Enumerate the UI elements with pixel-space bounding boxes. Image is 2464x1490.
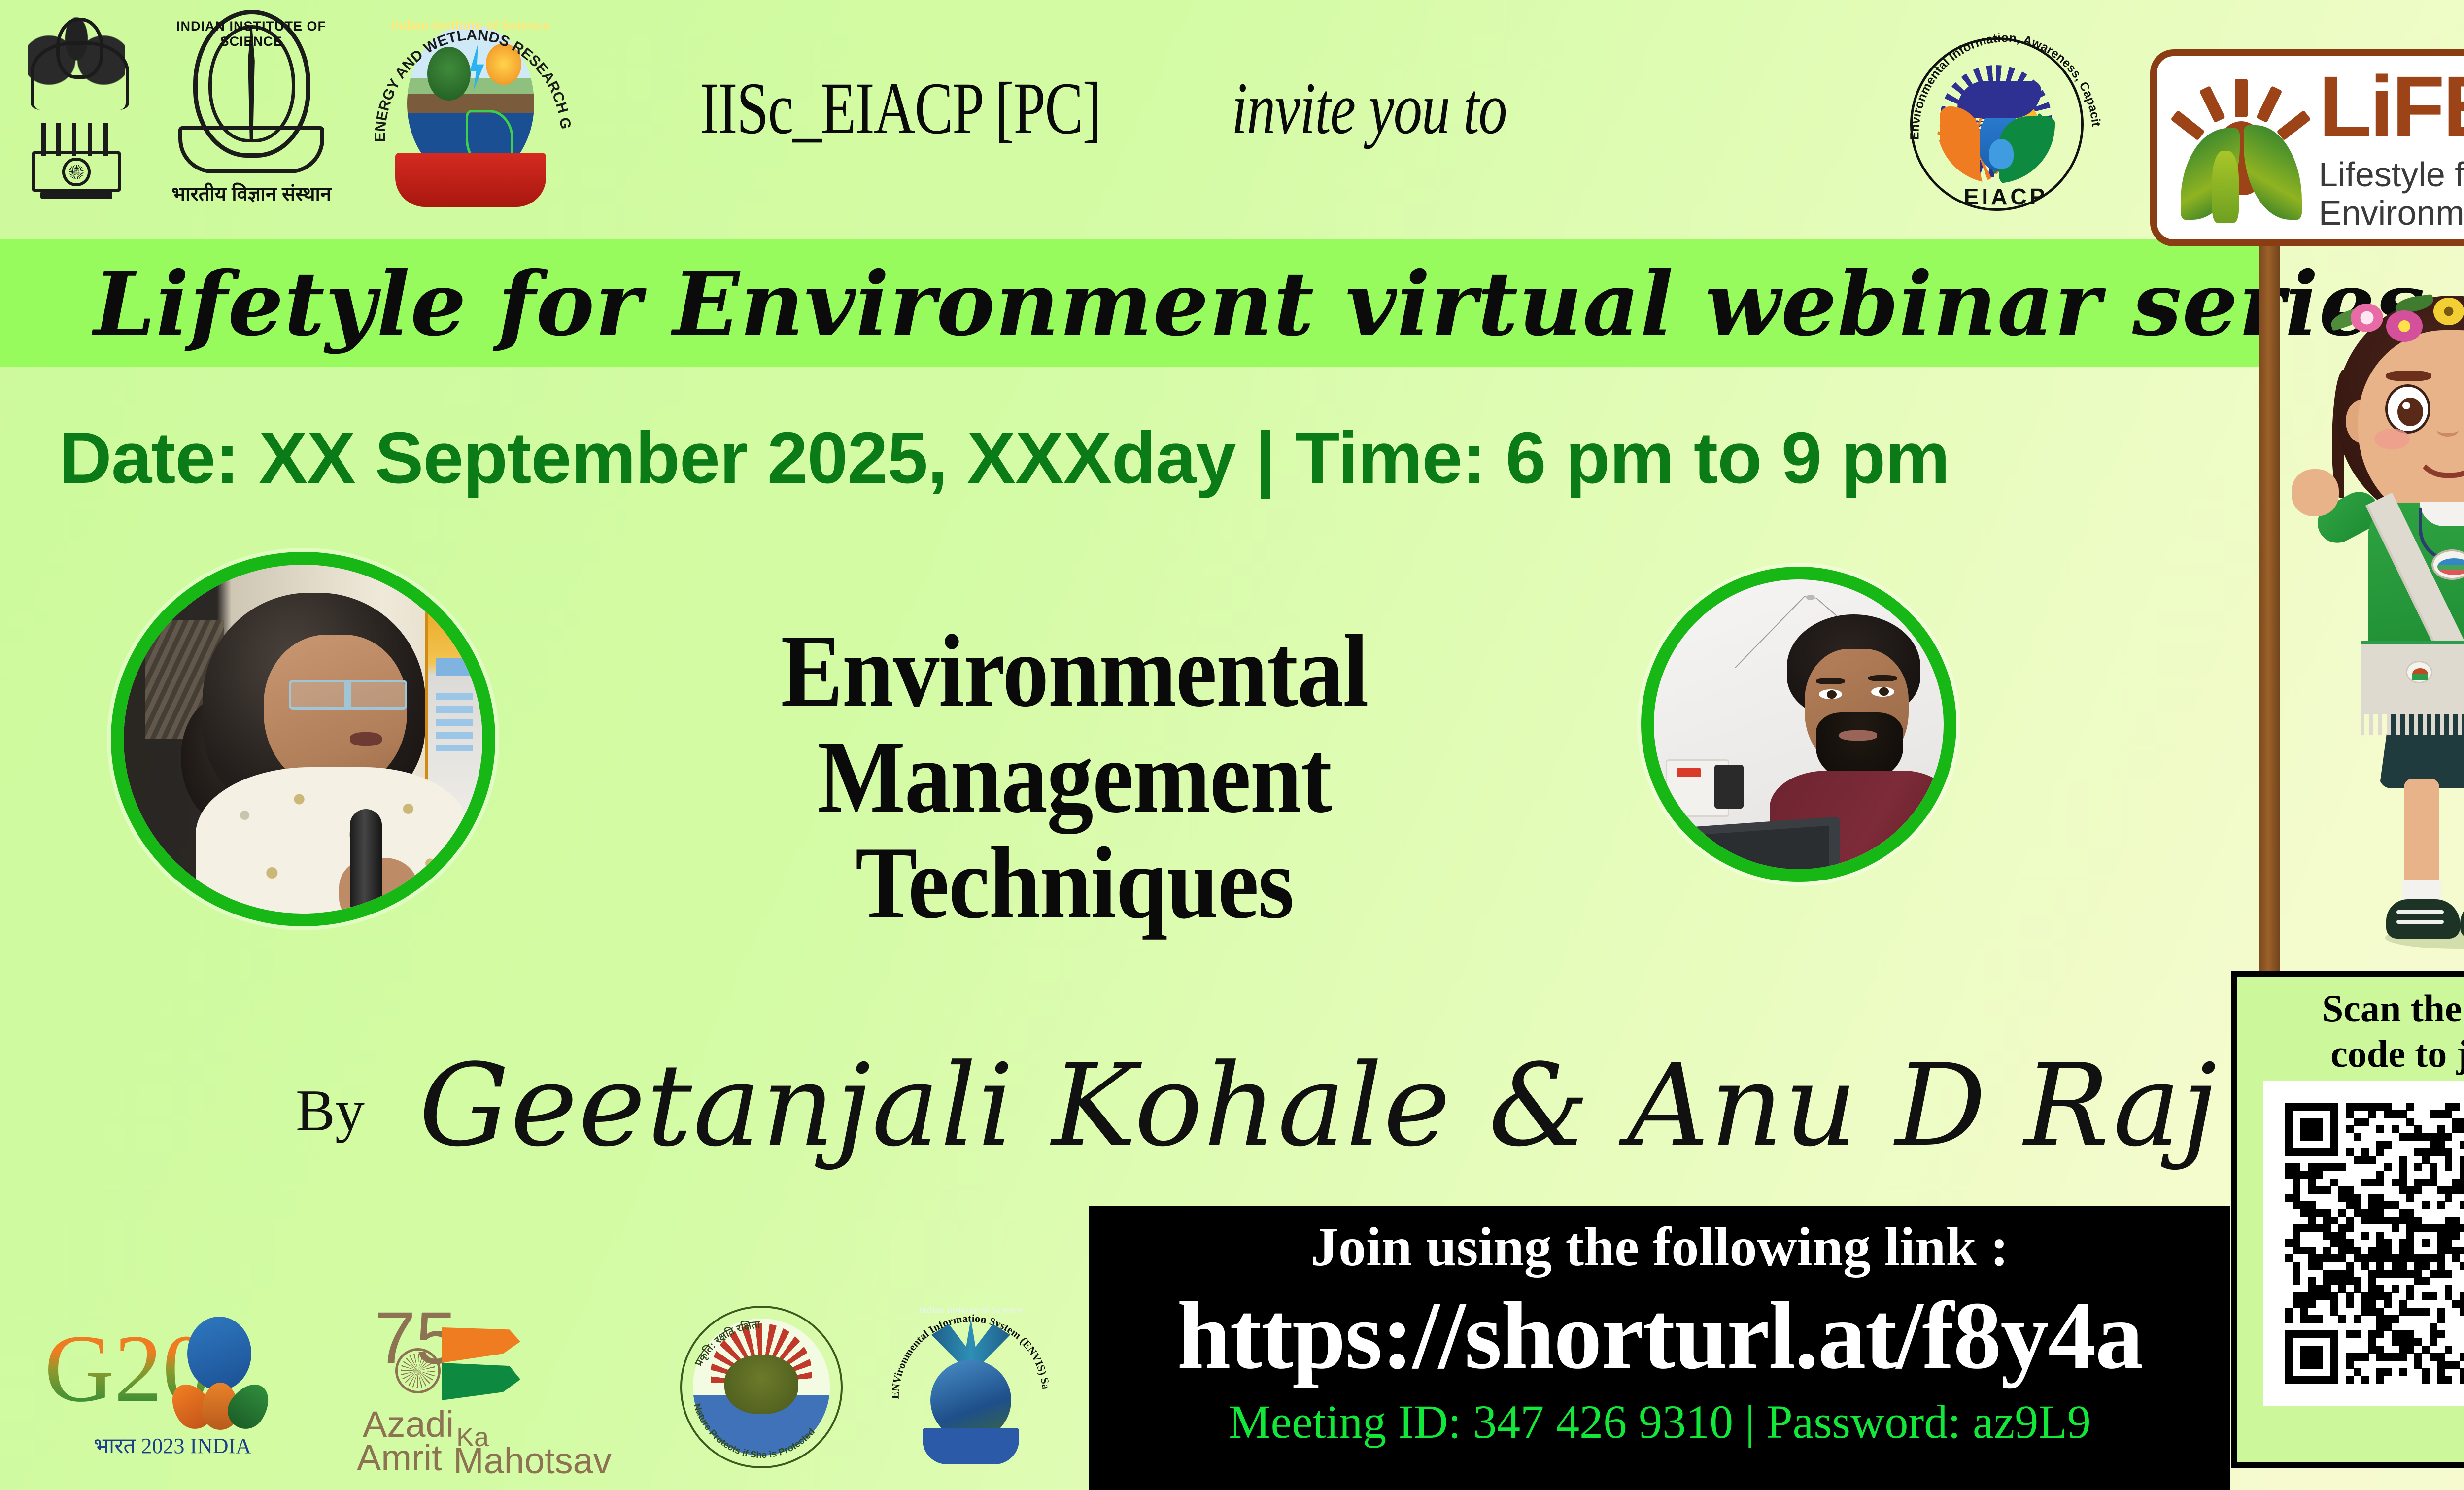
moefcc-arc-text: प्रकृति: रक्षति रक्षिता Nature Protects … bbox=[680, 1306, 843, 1468]
speaker-names: Geetanjali Kohale & Anu D Raj bbox=[419, 1042, 2218, 1170]
ewrg-ribbon-text: Indian Institute of Science bbox=[365, 18, 577, 33]
life-logo-title: LiFE bbox=[2319, 64, 2464, 150]
eiacp-logo: Environmental Information, Awareness, Ca… bbox=[1907, 10, 2104, 217]
speaker-2-photo bbox=[1641, 567, 1956, 882]
invite-italic-text: invite you to bbox=[1232, 59, 1506, 158]
g20-caption: भारत 2023 INDIA bbox=[44, 1430, 301, 1459]
invite-roman-text: IISc_EIACP [PC] bbox=[700, 59, 1101, 158]
flower-crown-icon bbox=[2321, 290, 2464, 364]
national-emblem-icon bbox=[15, 10, 138, 202]
talk-title: Environmental Management Techniques bbox=[655, 618, 1493, 936]
join-label: Join using the following link : bbox=[1089, 1215, 2230, 1279]
qr-panel: Scan the QR code to join TQRCG bbox=[2231, 971, 2464, 1468]
envis-sahyadri-logo: ENVironmental Information System (ENVIS)… bbox=[887, 1296, 1055, 1473]
iisc-banner-text: INDIAN INSTITUTE OF SCIENCE bbox=[168, 19, 335, 49]
life-emblem-icon bbox=[2172, 74, 2310, 222]
date-time-line: Date: XX September 2025, XXXday | Time: … bbox=[59, 414, 2178, 503]
qr-caption-line-1: Scan the QR bbox=[2237, 986, 2464, 1031]
speakers-line: By Geetanjali Kohale & Anu D Raj bbox=[296, 1032, 2020, 1180]
azadi-ka-amrit-mahotsav-logo: 75 Azadi Ka Amrit Mahotsav bbox=[355, 1301, 611, 1478]
iisc-hindi-text: भारतीय विज्ञान संस्थान bbox=[168, 179, 335, 206]
azadi-text-3: Amrit bbox=[357, 1437, 442, 1479]
life-logo-sub2: Environment bbox=[2319, 194, 2464, 232]
talk-title-line-1: Environmental bbox=[697, 618, 1451, 724]
g20-logo: G20 भारत 2023 INDIA bbox=[44, 1306, 301, 1473]
talk-title-line-3: Techniques bbox=[697, 830, 1451, 936]
azadi-text-4: Mahotsav bbox=[453, 1440, 612, 1482]
join-url[interactable]: https://shorturl.at/f8y4a bbox=[1089, 1279, 2230, 1392]
g20-caption-text: 2023 INDIA bbox=[141, 1434, 251, 1458]
talk-title-line-2: Management bbox=[697, 724, 1451, 830]
speaker-1-photo bbox=[111, 552, 495, 926]
series-title: Lifetyle for Environment virtual webinar… bbox=[94, 242, 2163, 366]
iisc-logo: INDIAN INSTITUTE OF SCIENCE भारतीय विज्ञ… bbox=[168, 10, 335, 207]
life-logo-card: LiFE Lifestyle for Environment bbox=[2150, 49, 2464, 246]
qr-caption-line-2: code to join bbox=[2237, 1031, 2464, 1077]
envis-ribbon-text: Indian Institute of Science bbox=[887, 1305, 1055, 1316]
eiacp-label: EIACP bbox=[1907, 183, 2104, 210]
by-prefix: By bbox=[296, 1077, 365, 1145]
life-logo-sub1: Lifestyle for bbox=[2319, 155, 2464, 194]
g20-caption-hindi: भारत bbox=[94, 1434, 136, 1458]
life-mascot-girl bbox=[2262, 266, 2464, 981]
webinar-poster: INDIAN INSTITUTE OF SCIENCE भारतीय विज्ञ… bbox=[0, 0, 2464, 1490]
invite-header: IISc_EIACP [PC] invite you to bbox=[700, 59, 1907, 158]
qr-code[interactable]: TQRCG bbox=[2263, 1081, 2464, 1406]
join-link-box: Join using the following link : https://… bbox=[1089, 1206, 2230, 1490]
meeting-credentials: Meeting ID: 347 426 9310 | Password: az9… bbox=[1089, 1392, 2230, 1452]
moefcc-logo: प्रकृति: रक्षति रक्षिता Nature Protects … bbox=[680, 1306, 843, 1468]
svg-text:Nature Protects if She is Prot: Nature Protects if She is Protected bbox=[691, 1402, 817, 1460]
ewrg-logo: ENERGY AND WETLANDS RESEARCH GROUP * CES… bbox=[365, 5, 577, 212]
svg-text:प्रकृति: रक्षति रक्षिता: प्रकृति: रक्षति रक्षिता bbox=[692, 1319, 761, 1369]
